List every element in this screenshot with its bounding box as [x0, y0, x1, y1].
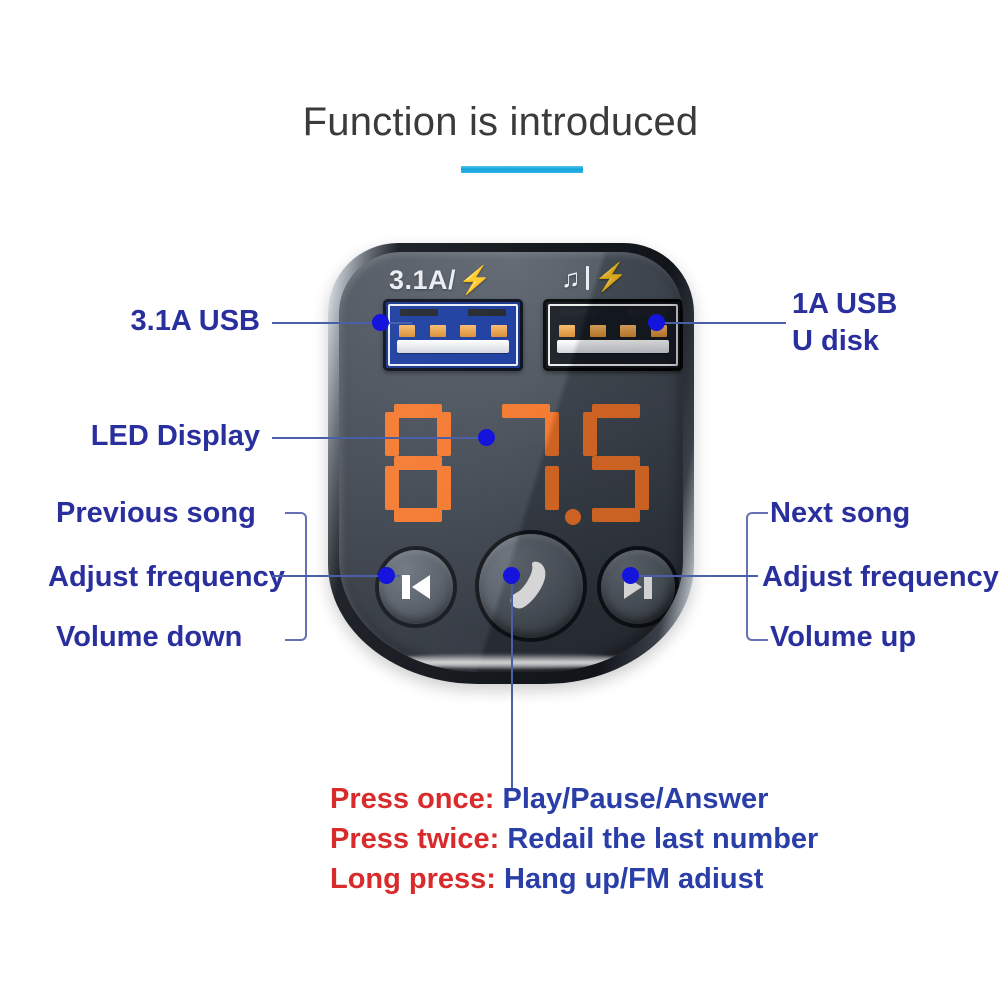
connector-right-group — [628, 575, 758, 577]
usb-right-caption: ♫ ⚡ — [561, 264, 628, 291]
usb-port-3-1a[interactable] — [383, 299, 523, 371]
annotation-usb-left-label: 3.1A USB — [80, 305, 260, 338]
instruction-row: Long press: Hang up/FM adiust — [330, 859, 818, 899]
usb-pin — [590, 325, 606, 337]
usb-tab — [468, 309, 506, 316]
usb-pin — [491, 325, 507, 337]
call-answer-button[interactable] — [479, 534, 583, 638]
connector-dot-call-button — [503, 567, 520, 584]
usb-tab — [560, 309, 598, 316]
connector-dot-usb-left — [372, 314, 389, 331]
led-digit-5 — [583, 404, 649, 522]
instruction-row: Press twice: Redail the last number — [330, 819, 818, 859]
annotation-volume-up: Volume up — [770, 621, 916, 654]
lightning-bolt-icon: ⚡ — [458, 267, 492, 294]
connector-dot-next-button — [622, 567, 639, 584]
instruction-value: Redail the last number — [507, 823, 818, 855]
usb-left-caption: 3.1A/ ⚡ — [389, 265, 492, 296]
annotation-adjust-frequency-right: Adjust frequency — [762, 561, 999, 594]
instruction-value: Play/Pause/Answer — [502, 783, 768, 815]
annotation-usb-right-label-line1: 1A USB — [792, 288, 897, 321]
instruction-value: Hang up/FM adiust — [504, 863, 763, 895]
instruction-row: Press once: Play/Pause/Answer — [330, 779, 818, 819]
connector-dot-led — [478, 429, 495, 446]
usb-tabs — [560, 309, 666, 316]
connector-led — [272, 437, 492, 439]
previous-track-icon — [396, 567, 436, 607]
connector-usb-right — [652, 322, 786, 324]
led-decimal-point — [565, 509, 581, 525]
annotation-volume-down: Volume down — [56, 621, 242, 654]
usb-contact-bar — [397, 340, 509, 353]
connector-dot-prev-button — [378, 567, 395, 584]
connector-dot-usb-right — [648, 314, 665, 331]
lightning-bolt-icon: ⚡ — [594, 264, 628, 291]
title-underline — [461, 166, 583, 173]
usb-pin — [399, 325, 415, 337]
usb-port-inner — [388, 304, 518, 366]
led-digit-8 — [385, 404, 451, 522]
annotation-next-song: Next song — [770, 497, 910, 530]
annotation-adjust-frequency-left: Adjust frequency — [48, 561, 285, 594]
usb-tabs — [400, 309, 506, 316]
music-note-icon: ♫ — [561, 265, 581, 291]
instruction-list: Press once: Play/Pause/Answer Press twic… — [330, 779, 818, 899]
led-display: 87.5 — [375, 402, 665, 527]
usb-left-caption-text: 3.1A/ — [389, 265, 456, 296]
usb-contact-bar — [557, 340, 669, 353]
product-function-diagram: Function is introduced 3.1A/ ⚡ ♫ ⚡ — [0, 0, 1001, 1001]
connector-call-button — [511, 575, 513, 790]
usb-pin — [559, 325, 575, 337]
usb-pin — [460, 325, 476, 337]
usb-port-1a-udisk[interactable] — [543, 299, 683, 371]
led-digit-7 — [493, 404, 559, 522]
usb-pins — [399, 325, 507, 337]
instruction-key: Press twice: — [330, 823, 499, 855]
instruction-key: Press once: — [330, 783, 494, 815]
usb-tab — [400, 309, 438, 316]
annotation-prev-song: Previous song — [56, 497, 256, 530]
connector-usb-left — [272, 322, 412, 324]
instruction-key: Long press: — [330, 863, 496, 895]
usb-pin — [430, 325, 446, 337]
annotation-led-label: LED Display — [60, 420, 260, 453]
page-title: Function is introduced — [0, 100, 1001, 145]
next-track-button[interactable] — [601, 550, 675, 624]
usb-pin — [620, 325, 636, 337]
caption-divider — [586, 266, 589, 290]
previous-track-button[interactable] — [379, 550, 453, 624]
annotation-usb-right-label-line2: U disk — [792, 325, 879, 358]
